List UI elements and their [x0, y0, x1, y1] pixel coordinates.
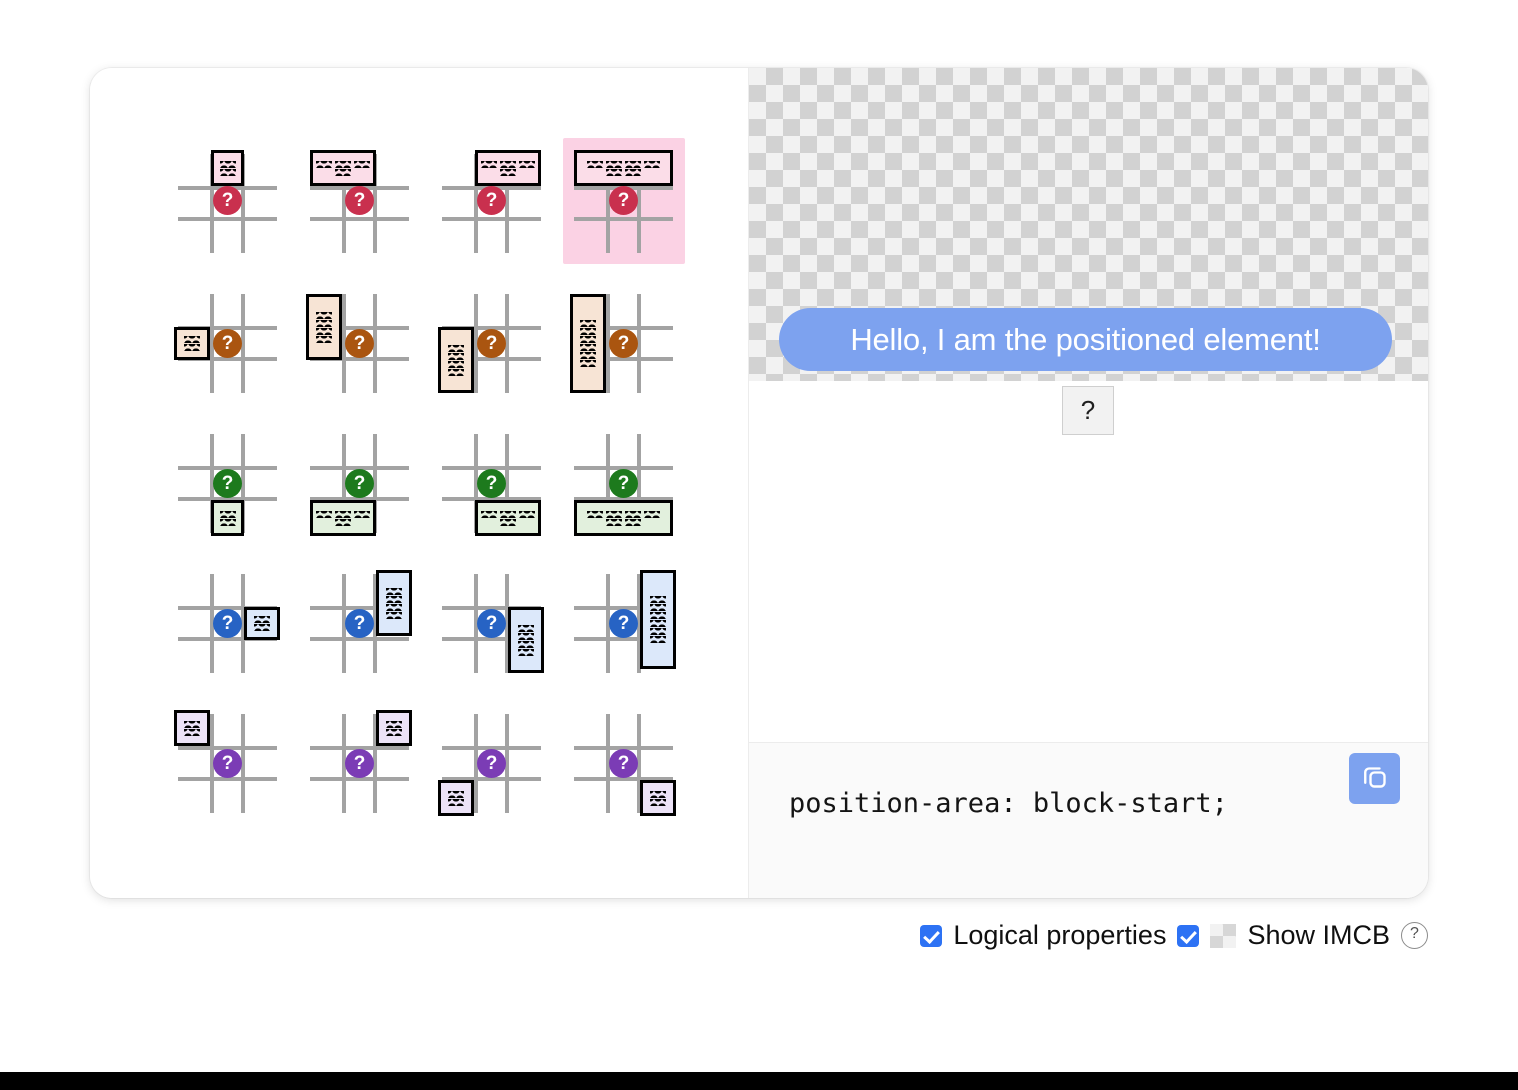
text-squiggle [184, 721, 200, 728]
position-area-reference-grid: ? [178, 714, 277, 813]
text-squiggle [519, 511, 535, 518]
text-squiggle [500, 169, 516, 176]
position-area-option[interactable]: ? [294, 134, 426, 274]
text-squiggle [448, 345, 464, 352]
text-squiggle [606, 511, 622, 518]
text-squiggle [316, 312, 332, 319]
text-squiggle [386, 604, 402, 611]
position-area-reference-grid: ? [442, 294, 541, 393]
text-squiggle [625, 161, 641, 168]
position-area-reference-grid: ? [574, 714, 673, 813]
position-area-reference-grid: ? [310, 154, 409, 253]
text-squiggle [335, 161, 351, 168]
position-area-reference-grid: ? [178, 154, 277, 253]
position-area-option[interactable]: ? [162, 274, 294, 414]
text-squiggle [335, 511, 351, 518]
text-squiggle [386, 612, 402, 619]
text-squiggle [316, 511, 332, 518]
text-squiggle [220, 169, 236, 176]
text-squiggle [184, 336, 200, 343]
option-positioned-box [211, 500, 244, 536]
option-anchor-badge: ? [213, 186, 242, 215]
text-squiggle [316, 328, 332, 335]
text-squiggle [650, 628, 666, 635]
code-panel: position-area: block-start; [749, 742, 1428, 898]
position-area-option[interactable]: ? [558, 274, 690, 414]
option-positioned-box [174, 327, 210, 360]
text-squiggle [518, 625, 534, 632]
option-positioned-box [211, 150, 244, 186]
show-imcb-checkbox[interactable] [1177, 925, 1199, 947]
text-squiggle [354, 161, 370, 168]
position-area-reference-grid: ? [574, 574, 673, 673]
text-squiggle [644, 161, 660, 168]
positioned-element: Hello, I am the positioned element! [779, 308, 1392, 371]
option-anchor-badge: ? [345, 749, 374, 778]
option-anchor-badge: ? [345, 329, 374, 358]
bottom-strip [0, 1072, 1518, 1090]
option-anchor-badge: ? [213, 609, 242, 638]
option-anchor-badge: ? [477, 609, 506, 638]
option-positioned-box [640, 570, 676, 669]
position-area-option[interactable]: ? [426, 274, 558, 414]
position-area-option[interactable]: ? [162, 134, 294, 274]
text-squiggle [650, 636, 666, 643]
option-positioned-box [438, 780, 474, 816]
text-squiggle [650, 604, 666, 611]
help-icon[interactable]: ? [1401, 922, 1428, 949]
position-area-reference-grid: ? [178, 294, 277, 393]
option-positioned-box [508, 607, 544, 673]
position-area-option[interactable]: ? [426, 554, 558, 694]
position-area-reference-grid: ? [310, 294, 409, 393]
text-squiggle [220, 511, 236, 518]
logical-properties-checkbox[interactable] [920, 925, 942, 947]
text-squiggle [650, 596, 666, 603]
option-positioned-box [244, 607, 280, 640]
option-positioned-box [574, 150, 673, 186]
text-squiggle [580, 352, 596, 359]
text-squiggle [625, 169, 641, 176]
text-squiggle [644, 511, 660, 518]
position-area-option[interactable]: ? [558, 694, 690, 834]
option-positioned-box [376, 710, 412, 746]
text-squiggle [335, 519, 351, 526]
option-anchor-badge: ? [609, 749, 638, 778]
position-area-reference-grid: ? [310, 434, 409, 533]
option-positioned-box [174, 710, 210, 746]
text-squiggle [580, 344, 596, 351]
grid-line [442, 217, 541, 221]
option-anchor-badge: ? [609, 186, 638, 215]
position-area-option[interactable]: ? [426, 134, 558, 274]
text-squiggle [580, 328, 596, 335]
text-squiggle [254, 616, 270, 623]
text-squiggle [386, 596, 402, 603]
text-squiggle [519, 161, 535, 168]
text-squiggle [386, 729, 402, 736]
text-squiggle [184, 344, 200, 351]
position-area-option[interactable]: ? [558, 414, 690, 554]
position-area-reference-grid: ? [310, 714, 409, 813]
option-positioned-box [640, 780, 676, 816]
position-area-option[interactable]: ? [294, 694, 426, 834]
position-area-option[interactable]: ? [558, 554, 690, 694]
option-positioned-box [475, 150, 541, 186]
text-squiggle [448, 353, 464, 360]
option-anchor-badge: ? [609, 329, 638, 358]
option-anchor-badge: ? [213, 329, 242, 358]
text-squiggle [254, 624, 270, 631]
text-squiggle [335, 169, 351, 176]
text-squiggle [316, 161, 332, 168]
text-squiggle [518, 633, 534, 640]
code-snippet: position-area: block-start; [789, 788, 1228, 819]
text-squiggle [650, 620, 666, 627]
option-anchor-badge: ? [213, 749, 242, 778]
text-squiggle [587, 161, 603, 168]
preview-panel: Hello, I am the positioned element! ? po… [748, 68, 1428, 898]
position-area-reference-grid: ? [178, 434, 277, 533]
grid-line [574, 217, 673, 221]
show-imcb-label: Show IMCB [1247, 920, 1390, 951]
text-squiggle [500, 161, 516, 168]
option-anchor-badge: ? [477, 469, 506, 498]
copy-button[interactable] [1349, 753, 1400, 804]
text-squiggle [481, 511, 497, 518]
position-area-reference-grid: ? [574, 294, 673, 393]
text-squiggle [625, 511, 641, 518]
text-squiggle [518, 649, 534, 656]
text-squiggle [316, 320, 332, 327]
show-imcb-control[interactable]: Show IMCB [1177, 920, 1390, 951]
text-squiggle [500, 511, 516, 518]
position-area-reference-grid: ? [574, 154, 673, 253]
option-anchor-badge: ? [213, 469, 242, 498]
app-root: ???????????????????? Hello, I am the pos… [0, 0, 1518, 1090]
text-squiggle [448, 791, 464, 798]
position-area-option[interactable]: ? [162, 414, 294, 554]
position-area-reference-grid: ? [442, 574, 541, 673]
position-area-option[interactable]: ? [162, 694, 294, 834]
text-squiggle [650, 791, 666, 798]
text-squiggle [606, 161, 622, 168]
text-squiggle [386, 721, 402, 728]
position-area-option-grid: ???????????????????? [162, 134, 690, 834]
option-positioned-box [376, 570, 412, 636]
option-positioned-box [574, 500, 673, 536]
position-area-reference-grid: ? [442, 154, 541, 253]
option-positioned-box [570, 294, 606, 393]
checkerboard-swatch-icon [1210, 924, 1236, 948]
text-squiggle [580, 320, 596, 327]
text-squiggle [316, 336, 332, 343]
option-anchor-badge: ? [609, 469, 638, 498]
option-anchor-badge: ? [477, 186, 506, 215]
logical-properties-label: Logical properties [953, 920, 1166, 951]
position-area-option[interactable]: ? [294, 554, 426, 694]
position-area-reference-grid: ? [442, 714, 541, 813]
option-positioned-box [438, 327, 474, 393]
copy-icon [1360, 762, 1390, 795]
option-positioned-box [306, 294, 342, 360]
position-area-reference-grid: ? [178, 574, 277, 673]
demo-card: ???????????????????? Hello, I am the pos… [90, 68, 1428, 898]
position-area-option[interactable]: ? [294, 274, 426, 414]
option-positioned-box [310, 500, 376, 536]
text-squiggle [625, 519, 641, 526]
text-squiggle [354, 511, 370, 518]
text-squiggle [220, 161, 236, 168]
text-squiggle [184, 729, 200, 736]
text-squiggle [500, 519, 516, 526]
text-squiggle [448, 369, 464, 376]
text-squiggle [580, 336, 596, 343]
text-squiggle [650, 612, 666, 619]
text-squiggle [220, 519, 236, 526]
text-squiggle [650, 799, 666, 806]
option-anchor-badge: ? [345, 186, 374, 215]
option-anchor-badge: ? [345, 469, 374, 498]
position-area-reference-grid: ? [574, 434, 673, 533]
text-squiggle [481, 161, 497, 168]
text-squiggle [386, 588, 402, 595]
option-anchor-badge: ? [609, 609, 638, 638]
text-squiggle [606, 169, 622, 176]
position-area-reference-grid: ? [310, 574, 409, 673]
option-positioned-box [475, 500, 541, 536]
grid-line [178, 217, 277, 221]
position-area-option[interactable]: ? [162, 554, 294, 694]
option-anchor-badge: ? [345, 609, 374, 638]
option-positioned-box [310, 150, 376, 186]
position-area-option[interactable]: ? [558, 134, 690, 274]
text-squiggle [448, 799, 464, 806]
text-squiggle [518, 641, 534, 648]
position-area-option[interactable]: ? [294, 414, 426, 554]
anchor-element[interactable]: ? [1062, 386, 1114, 435]
option-anchor-badge: ? [477, 749, 506, 778]
position-area-reference-grid: ? [442, 434, 541, 533]
position-area-option[interactable]: ? [426, 414, 558, 554]
option-anchor-badge: ? [477, 329, 506, 358]
option-grid-panel: ???????????????????? [90, 68, 748, 898]
bottom-controls: Logical properties Show IMCB ? [0, 920, 1428, 951]
text-squiggle [587, 511, 603, 518]
text-squiggle [580, 360, 596, 367]
text-squiggle [448, 361, 464, 368]
logical-properties-control[interactable]: Logical properties [920, 920, 1166, 951]
position-area-option[interactable]: ? [426, 694, 558, 834]
grid-line [310, 217, 409, 221]
text-squiggle [606, 519, 622, 526]
